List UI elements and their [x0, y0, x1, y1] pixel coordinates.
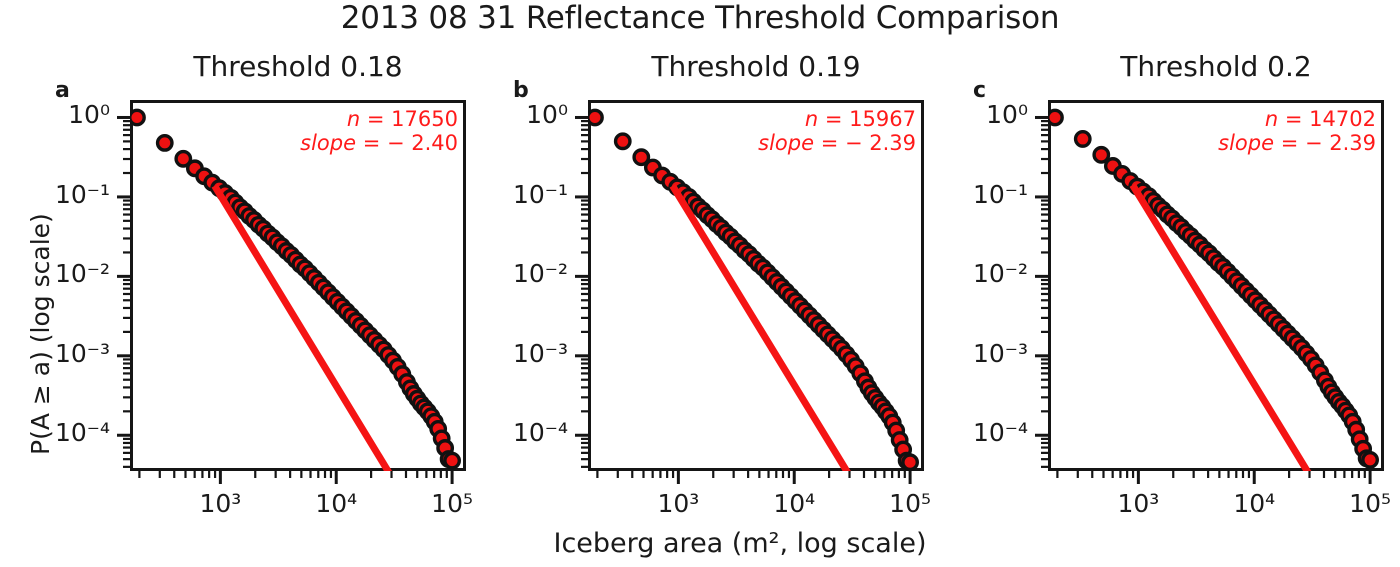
- panel-letter-a: a: [55, 78, 70, 103]
- panel-letter-c: c: [973, 78, 986, 103]
- annotation-n-c: n = 14702: [1166, 108, 1376, 132]
- y-tick-label: 10⁻²: [478, 259, 568, 288]
- y-tick-label: 10⁻⁴: [20, 418, 110, 447]
- figure-root: 2013 08 31 Reflectance Threshold Compari…: [0, 0, 1400, 567]
- panel-annotation-b: n = 15967slope = − 2.39: [706, 108, 916, 155]
- y-tick-label: 10⁻¹: [938, 180, 1028, 209]
- x-axis-label: Iceberg area (m², log scale): [40, 528, 1400, 559]
- x-tick-label: 10⁴: [286, 489, 386, 518]
- panel-title-a: Threshold 0.18: [130, 50, 466, 83]
- y-tick-label: 10⁻³: [938, 339, 1028, 368]
- annotation-slope-a: slope = − 2.40: [248, 132, 458, 156]
- x-tick-label: 10³: [1088, 489, 1188, 518]
- y-tick-label: 10⁻¹: [20, 180, 110, 209]
- x-tick-label: 10⁵: [1320, 489, 1400, 518]
- plot-area-a: [130, 100, 506, 511]
- annotation-n-a: n = 17650: [248, 108, 458, 132]
- annotation-slope-c: slope = − 2.39: [1166, 132, 1376, 156]
- y-tick-label: 10⁰: [938, 100, 1028, 129]
- y-tick-label: 10⁰: [20, 100, 110, 129]
- plot-area-c: [1048, 100, 1400, 511]
- annotation-n-b: n = 15967: [706, 108, 916, 132]
- panel-title-c: Threshold 0.2: [1048, 50, 1384, 83]
- x-tick-label: 10³: [628, 489, 728, 518]
- y-tick-label: 10⁰: [478, 100, 568, 129]
- annotation-slope-b: slope = − 2.39: [706, 132, 916, 156]
- y-tick-label: 10⁻⁴: [938, 418, 1028, 447]
- plot-area-b: [588, 100, 964, 511]
- y-tick-label: 10⁻³: [20, 339, 110, 368]
- x-tick-label: 10⁵: [402, 489, 502, 518]
- x-tick-label: 10⁴: [744, 489, 844, 518]
- y-tick-label: 10⁻⁴: [478, 418, 568, 447]
- y-tick-label: 10⁻³: [478, 339, 568, 368]
- y-tick-label: 10⁻¹: [478, 180, 568, 209]
- figure-suptitle: 2013 08 31 Reflectance Threshold Compari…: [0, 0, 1400, 36]
- panel-letter-b: b: [513, 78, 529, 103]
- x-tick-label: 10⁵: [860, 489, 960, 518]
- y-tick-label: 10⁻²: [938, 259, 1028, 288]
- x-tick-label: 10³: [170, 489, 270, 518]
- panel-title-b: Threshold 0.19: [588, 50, 924, 83]
- panel-annotation-a: n = 17650slope = − 2.40: [248, 108, 458, 155]
- panel-annotation-c: n = 14702slope = − 2.39: [1166, 108, 1376, 155]
- y-tick-label: 10⁻²: [20, 259, 110, 288]
- x-tick-label: 10⁴: [1204, 489, 1304, 518]
